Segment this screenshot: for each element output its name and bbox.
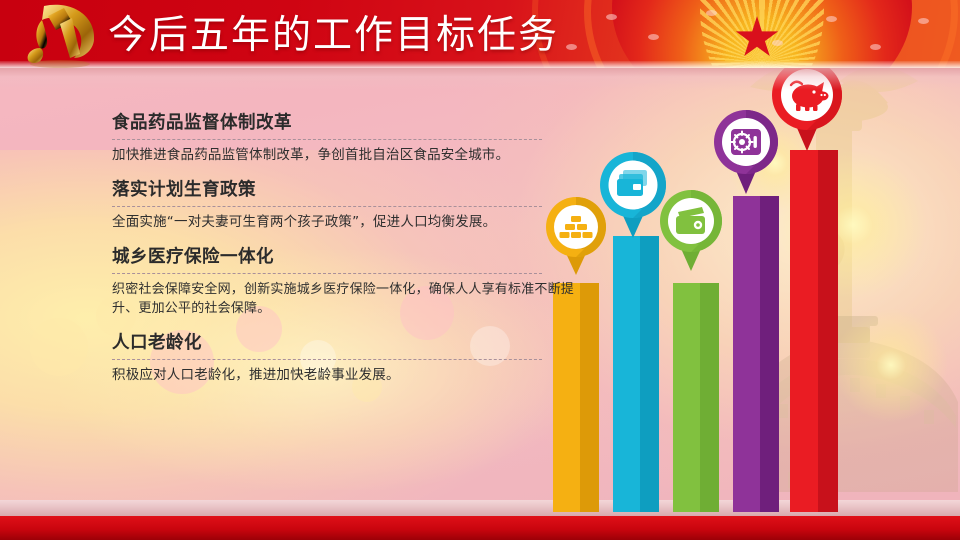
bar-side [640,236,659,512]
pin-shape [714,110,778,194]
bottom-red-band [0,516,960,540]
pin-marker-credit-cards[interactable] [600,152,666,238]
section-body: 积极应对人口老龄化，推进加快老龄事业发展。 [112,366,542,385]
section-divider [112,206,542,207]
pin-shape [660,190,722,271]
section-population-aging: 人口老龄化 积极应对人口老龄化，推进加快老龄事业发展。 [112,332,542,385]
section-title: 人口老龄化 [112,332,542,354]
section-body: 织密社会保障安全网，创新实施城乡医疗保险一体化，确保人人享有标准不断提升、更加公… [112,280,582,318]
section-divider [112,273,542,274]
header-reflection [0,68,960,90]
section-body: 加快推进食品药品监管体制改革，争创首批自治区食品安全城市。 [112,146,542,165]
pin-shape [600,152,666,238]
bar-side [580,283,599,512]
bar-green[interactable] [673,283,719,512]
section-body: 全面实施“一对夫妻可生育两个孩子政策”，促进人口均衡发展。 [112,213,542,232]
objectives-list: 食品药品监督体制改革 加快推进食品药品监管体制改革，争创首批自治区食品安全城市。… [112,112,542,399]
bar-side [760,196,779,512]
section-medical-insurance-integration: 城乡医疗保险一体化 织密社会保障安全网，创新实施城乡医疗保险一体化，确保人人享有… [112,246,582,318]
section-family-planning-policy: 落实计划生育政策 全面实施“一对夫妻可生育两个孩子政策”，促进人口均衡发展。 [112,179,542,232]
bar-red[interactable] [790,150,838,512]
pin-marker-safe-vault[interactable] [714,110,778,194]
section-title: 食品药品监督体制改革 [112,112,542,134]
bar-cyan[interactable] [613,236,659,512]
pin-marker-wallet[interactable] [660,190,722,271]
section-divider [112,359,542,360]
section-title: 城乡医疗保险一体化 [112,246,582,268]
safe-vault-icon [731,129,761,155]
section-title: 落实计划生育政策 [112,179,542,201]
section-divider [112,139,542,140]
slide-root: 今后五年的工作目标任务 食品药品监督体制改革 加快推进食品药品监管体制改革，争创… [0,0,960,540]
section-food-drug-reform: 食品药品监督体制改革 加快推进食品药品监管体制改革，争创首批自治区食品安全城市。 [112,112,542,165]
bar-side [818,150,838,512]
bar-side [700,283,719,512]
page-title: 今后五年的工作目标任务 [108,8,559,64]
bar-purple[interactable] [733,196,779,512]
hammer-and-sickle-emblem [14,0,110,70]
